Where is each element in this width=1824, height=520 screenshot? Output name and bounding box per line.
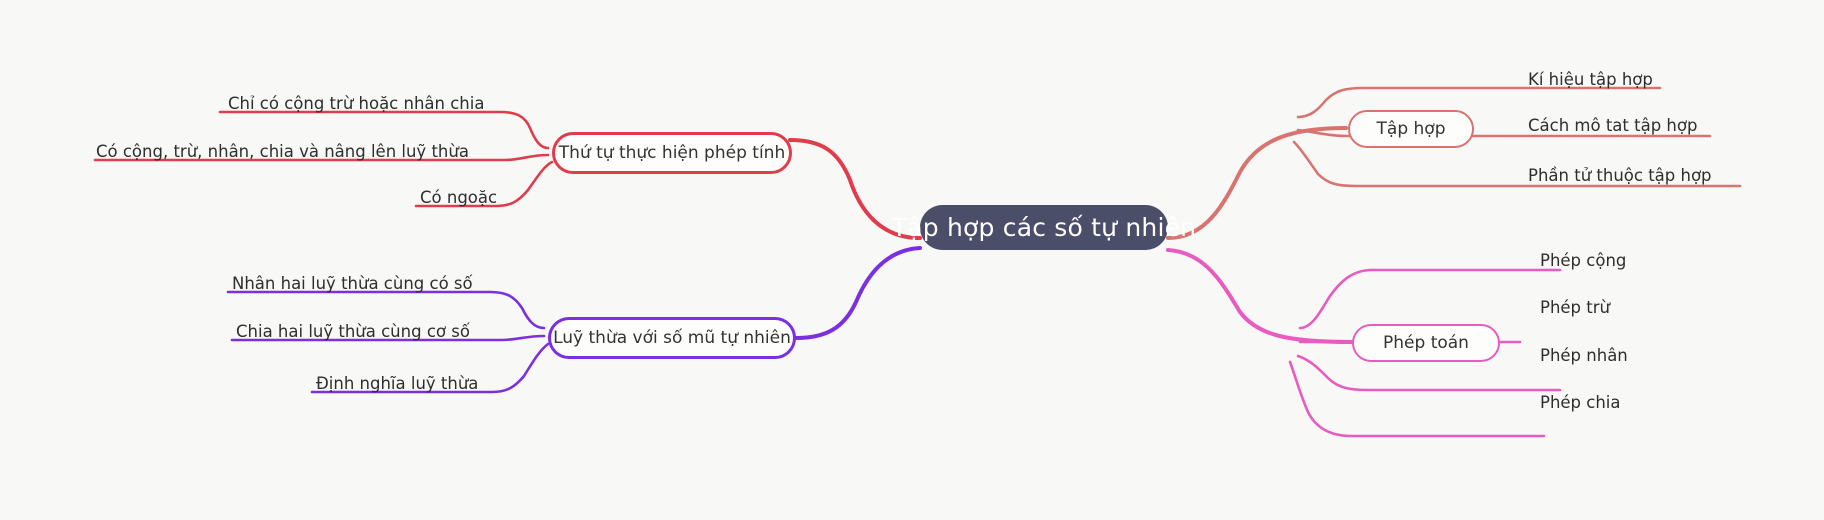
leaf-label-order-1[interactable]: Chỉ có cộng trừ hoặc nhân chia (228, 96, 484, 113)
leaf-label-order-3[interactable]: Có ngoặc (420, 190, 497, 207)
leaf-label-operations-4[interactable]: Phép chia (1540, 395, 1621, 412)
leaf-label-operations-2[interactable]: Phép trừ (1540, 300, 1610, 317)
branch-node-exponents[interactable]: Luỹ thừa với số mũ tự nhiên (548, 317, 796, 359)
branch-node-operations[interactable]: Phép toán (1352, 324, 1500, 362)
leaf-label-exponents-1[interactable]: Nhân hai luỹ thừa cùng có số (232, 276, 473, 293)
leaf-label-exponents-2[interactable]: Chia hai luỹ thừa cùng cơ số (236, 324, 470, 341)
leaf-label-sets-3[interactable]: Phần tử thuộc tập hợp (1528, 168, 1712, 185)
leaf-label-sets-1[interactable]: Kí hiệu tập hợp (1528, 72, 1653, 89)
branch-node-sets[interactable]: Tập hợp (1348, 110, 1474, 148)
branch-node-order-of-operations[interactable]: Thứ tự thực hiện phép tính (552, 132, 792, 174)
root-node[interactable]: Tập hợp các số tự nhiên (920, 205, 1168, 250)
leaf-label-exponents-3[interactable]: Định nghĩa luỹ thừa (316, 376, 478, 393)
leaf-label-sets-2[interactable]: Cách mô tat tập hợp (1528, 118, 1697, 135)
leaf-label-order-2[interactable]: Có cộng, trừ, nhân, chia và nâng lên luỹ… (96, 144, 469, 161)
leaf-label-operations-3[interactable]: Phép nhân (1540, 348, 1628, 365)
leaf-label-operations-1[interactable]: Phép cộng (1540, 253, 1626, 270)
mindmap-canvas[interactable]: Tập hợp các số tự nhiên Thứ tự thực hiện… (0, 0, 1824, 520)
mindmap-nodes: Tập hợp các số tự nhiên Thứ tự thực hiện… (0, 0, 1824, 520)
